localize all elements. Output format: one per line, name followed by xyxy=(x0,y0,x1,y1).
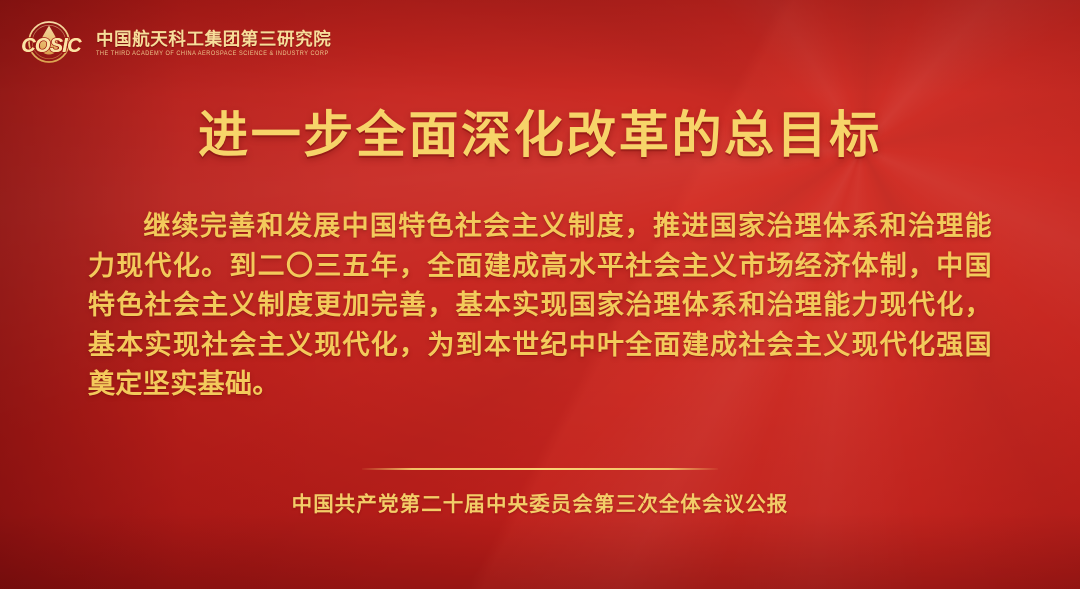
org-name-cn: 中国航天科工集团第三研究院 xyxy=(96,30,331,48)
body-paragraph: 继续完善和发展中国特色社会主义制度，推进国家治理体系和治理能力现代化。到二〇三五… xyxy=(88,207,992,405)
org-name-block: 中国航天科工集团第三研究院 THE THIRD ACADEMY OF CHINA… xyxy=(96,30,331,57)
body-block: 继续完善和发展中国特色社会主义制度，推进国家治理体系和治理能力现代化。到二〇三五… xyxy=(88,207,992,405)
cosic-emblem-icon: COSIC COSIC xyxy=(18,14,86,74)
poster-root: COSIC COSIC 中国航天科工集团第三研究院 THE THIRD ACAD… xyxy=(0,0,1080,589)
svg-text:COSIC: COSIC xyxy=(21,35,82,57)
page-title: 进一步全面深化改革的总目标 xyxy=(0,106,1080,165)
header: COSIC COSIC 中国航天科工集团第三研究院 THE THIRD ACAD… xyxy=(18,14,331,74)
poster-content: COSIC COSIC 中国航天科工集团第三研究院 THE THIRD ACAD… xyxy=(0,0,1080,589)
org-name-en: THE THIRD ACADEMY OF CHINA AEROSPACE SCI… xyxy=(96,51,331,58)
footer-divider xyxy=(362,468,718,470)
source-attribution: 中国共产党第二十届中央委员会第三次全体会议公报 xyxy=(292,487,789,517)
footer: 中国共产党第二十届中央委员会第三次全体会议公报 xyxy=(0,468,1080,517)
